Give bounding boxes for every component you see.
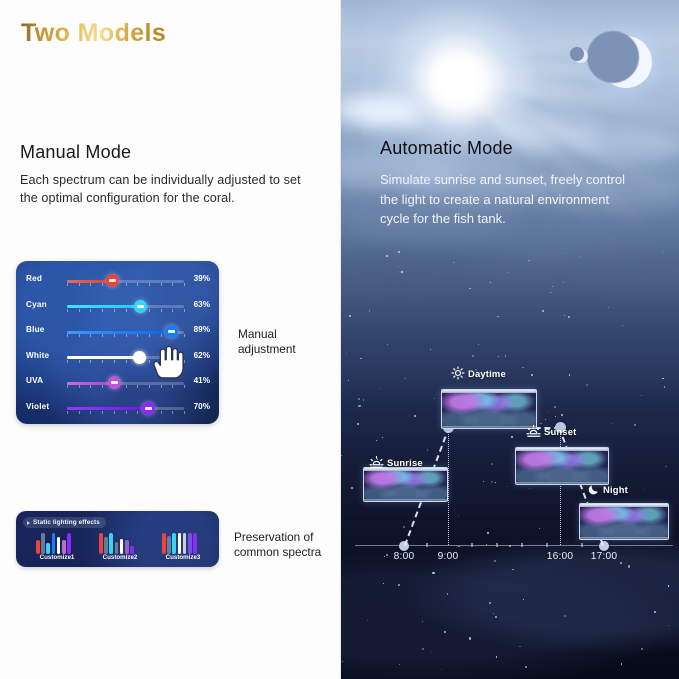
- preservation-label: Preservation of common spectra: [234, 530, 339, 560]
- axis-tick: [546, 543, 548, 547]
- slider-row-blue[interactable]: Blue89%: [16, 319, 219, 345]
- axis-label-16-00: 16:00: [547, 551, 574, 562]
- slider-ticks-cyan: [67, 309, 184, 313]
- slider-value-cyan: 63%: [194, 300, 210, 309]
- preset-name-1: Customize1: [28, 554, 86, 561]
- tank-scene: [442, 390, 536, 428]
- stage-label-night: Night: [587, 483, 628, 496]
- manual-mode-panel: Two Models Manual Mode Each spectrum can…: [0, 0, 341, 679]
- tank-base: [364, 499, 447, 501]
- slider-knob-cyan[interactable]: [134, 300, 147, 313]
- tank-scene: [580, 504, 668, 539]
- stage-label-sunrise: Sunrise: [369, 455, 423, 470]
- screenshot-root: Two Models Manual Mode Each spectrum can…: [0, 0, 679, 679]
- axis-label-9-00: 9:00: [438, 551, 459, 562]
- tank-scene: [364, 468, 447, 501]
- slider-knob-blue[interactable]: [165, 325, 178, 338]
- manual-mode-heading: Manual Mode: [20, 142, 131, 163]
- axis-tick: [581, 543, 583, 547]
- preset-3[interactable]: Customize3: [154, 532, 212, 562]
- slider-row-red[interactable]: Red39%: [16, 268, 219, 294]
- axis-tick: [426, 543, 428, 547]
- stage-name-night: Night: [603, 484, 628, 495]
- manual-mode-description: Each spectrum can be individually adjust…: [20, 171, 320, 207]
- stage-name-daytime: Daytime: [468, 368, 506, 379]
- aquarium-tank-daytime: [441, 389, 537, 429]
- timeline-guide-line: [448, 427, 449, 545]
- preset-bars-1: [36, 532, 71, 554]
- automatic-mode-panel: Automatic Mode Simulate sunrise and suns…: [341, 0, 679, 679]
- spectrum-slider-card: Red39%Cyan63%Blue89%White62%UVA41%Violet…: [16, 261, 219, 424]
- axis-label-17-00: 17:00: [591, 551, 618, 562]
- stage-label-sunset: Sunset: [526, 424, 576, 439]
- moon-icon: [587, 483, 600, 496]
- aquarium-tank-night: [579, 503, 669, 540]
- stage-label-daytime: Daytime: [451, 366, 506, 380]
- stage-name-sunrise: Sunrise: [387, 457, 423, 468]
- manual-adjustment-label: Manual adjustment: [238, 327, 333, 357]
- slider-value-blue: 89%: [194, 325, 210, 334]
- slider-label-white: White: [26, 351, 49, 360]
- sunrise-icon: [526, 424, 541, 439]
- hand-cursor-icon: [152, 344, 186, 382]
- axis-tick: [521, 543, 523, 547]
- aquarium-tank-sunrise: [363, 467, 448, 502]
- slider-ticks-red: [67, 283, 184, 287]
- sun-icon: [451, 366, 465, 380]
- slider-row-violet[interactable]: Violet70%: [16, 396, 219, 422]
- slider-label-red: Red: [26, 274, 42, 283]
- preset-bars-2: [99, 532, 134, 554]
- preset-bars-3: [162, 532, 197, 554]
- slider-value-uva: 41%: [194, 376, 210, 385]
- slider-label-blue: Blue: [26, 325, 45, 334]
- slider-row-uva[interactable]: UVA41%: [16, 370, 219, 396]
- static-lighting-effects-title: Static lighting effects: [33, 519, 100, 526]
- slider-label-uva: UVA: [26, 376, 43, 385]
- slider-value-white: 62%: [194, 351, 210, 360]
- tank-lid: [516, 448, 608, 451]
- slider-ticks-violet: [67, 411, 184, 415]
- static-lighting-effects-title-pill: Static lighting effects: [23, 517, 106, 528]
- slider-label-cyan: Cyan: [26, 300, 47, 309]
- tank-base: [580, 537, 668, 539]
- preset-name-2: Customize2: [91, 554, 149, 561]
- slider-value-red: 39%: [194, 274, 210, 283]
- expand-triangle-icon: [27, 521, 30, 525]
- slider-label-violet: Violet: [26, 402, 49, 411]
- slider-knob-white[interactable]: [133, 351, 146, 364]
- preset-1[interactable]: Customize1: [28, 532, 86, 562]
- axis-label-8-00: 8:00: [394, 551, 415, 562]
- lighting-schedule-timeline: 8:009:0016:0017:00SunriseDaytimeSunsetNi…: [341, 0, 679, 679]
- tank-lid: [580, 504, 668, 507]
- aquarium-tank-sunset: [515, 447, 609, 485]
- page-title: Two Models: [21, 19, 166, 48]
- stage-name-sunset: Sunset: [544, 426, 576, 437]
- static-lighting-effects-card: Static lighting effects Customize1Custom…: [16, 511, 219, 567]
- tank-base: [442, 426, 536, 428]
- timeline-guide-line: [560, 427, 561, 545]
- slider-value-violet: 70%: [194, 402, 210, 411]
- slider-row-white[interactable]: White62%: [16, 345, 219, 371]
- preset-name-3: Customize3: [154, 554, 212, 561]
- slider-row-cyan[interactable]: Cyan63%: [16, 294, 219, 320]
- sunrise-icon: [369, 455, 384, 470]
- tank-scene: [516, 448, 608, 484]
- axis-tick: [496, 543, 498, 547]
- axis-tick: [471, 543, 473, 547]
- preset-2[interactable]: Customize2: [91, 532, 149, 562]
- tank-lid: [442, 390, 536, 393]
- slider-ticks-uva: [67, 385, 184, 389]
